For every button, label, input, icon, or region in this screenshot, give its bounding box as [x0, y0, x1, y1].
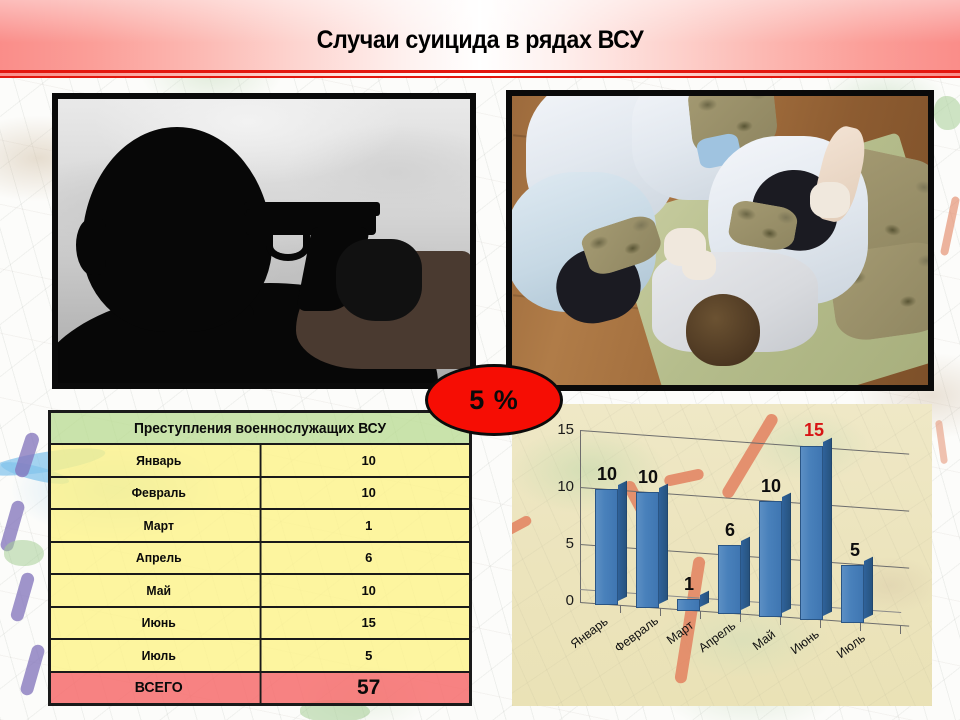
chart-x-label-april: Апрель: [696, 618, 738, 655]
table-cell-month: Апрель: [58, 543, 262, 574]
map-road: [940, 196, 960, 256]
bar-face: [718, 545, 741, 614]
chart-y-tick-5: 5: [544, 535, 574, 552]
chart-y-tick-15: 15: [544, 421, 574, 438]
map-dashed-route: [19, 643, 46, 697]
chart-label-june: 15: [797, 420, 831, 441]
chart-x-tick: [860, 623, 861, 631]
pistol-trigger-guard: [266, 231, 310, 261]
percent-badge: 5 %: [425, 364, 563, 436]
chart-x-label-june: Июнь: [788, 627, 822, 657]
table-cell-value: 15: [268, 608, 469, 639]
table-cell-month: Март: [58, 510, 262, 541]
chart-x-tick: [820, 620, 821, 628]
chart-bar-may: [759, 501, 782, 617]
table-total-label: ВСЕГО: [58, 673, 262, 704]
table-header-label: Преступления военнослужащих ВСУ: [134, 420, 386, 437]
chart-map-road: [663, 468, 704, 487]
latex-glove: [682, 250, 716, 280]
chart-bar-february: [636, 492, 659, 608]
map-green-area: [4, 540, 44, 566]
bar-face: [677, 599, 700, 611]
chart-bar-april: [718, 545, 741, 614]
bar-face: [759, 501, 782, 617]
chart-bar-july: [841, 565, 864, 623]
silhouette-hand: [336, 239, 422, 321]
bar-face: [841, 565, 864, 623]
table-row: Февраль 10: [51, 478, 469, 511]
monthly-bar-chart: 15 10 5 0: [512, 404, 932, 706]
table-cell-month: Июль: [58, 640, 262, 671]
percent-badge-label: 5 %: [469, 385, 519, 416]
latex-glove: [810, 182, 850, 218]
table-cell-value: 10: [268, 575, 469, 606]
chart-x-label-february: Февраль: [612, 613, 661, 655]
map-dashed-route: [9, 571, 35, 623]
chart-label-may: 10: [754, 476, 788, 497]
chart-y-tick-0: 0: [544, 592, 574, 609]
table-cell-value: 5: [268, 640, 469, 671]
medics-photo: [506, 90, 934, 391]
table-total-value: 57: [268, 673, 469, 704]
table-row: Январь 10: [51, 445, 469, 478]
map-road: [935, 420, 948, 465]
chart-label-january: 10: [590, 464, 624, 485]
bar-face: [595, 489, 618, 605]
map-green-area: [934, 96, 960, 130]
table-row: Март 1: [51, 510, 469, 543]
chart-label-february: 10: [631, 467, 665, 488]
chart-x-tick: [740, 614, 741, 622]
chart-y-axis: [580, 430, 581, 602]
bar-side: [823, 438, 832, 616]
chart-bar-june: [800, 446, 823, 620]
patient-head: [686, 294, 760, 366]
chart-x-label-january: Январь: [568, 614, 611, 651]
table-row: Май 10: [51, 575, 469, 608]
slide-canvas: Случаи суицида в рядах ВСУ: [0, 0, 960, 720]
table-total-row: ВСЕГО 57: [51, 673, 469, 704]
bar-side: [741, 537, 750, 610]
chart-x-label-may: Май: [750, 627, 778, 653]
table-cell-value: 10: [268, 445, 469, 476]
table-cell-month: Июнь: [58, 608, 262, 639]
crimes-table: Преступления военнослужащих ВСУ Январь 1…: [48, 410, 472, 706]
header-rule-bottom: [0, 76, 960, 78]
suicide-silhouette-photo: [52, 93, 476, 389]
table-row: Апрель 6: [51, 543, 469, 576]
chart-label-march: 1: [672, 574, 706, 595]
chart-bar-march: [677, 599, 700, 611]
chart-x-tick: [620, 605, 621, 613]
bar-face: [636, 492, 659, 608]
chart-x-tick: [700, 611, 701, 619]
chart-label-april: 6: [713, 520, 747, 541]
chart-x-tick: [780, 617, 781, 625]
table-cell-value: 6: [268, 543, 469, 574]
table-row: Июль 5: [51, 640, 469, 673]
chart-label-july: 5: [838, 540, 872, 561]
chart-x-label-july: Июль: [834, 631, 868, 661]
chart-map-road: [512, 514, 533, 542]
table-cell-month: Май: [58, 575, 262, 606]
table-cell-month: Январь: [58, 445, 262, 476]
silhouette-ear: [76, 219, 106, 275]
bar-face: [800, 446, 823, 620]
chart-x-tick: [660, 608, 661, 616]
bar-side: [782, 493, 791, 613]
chart-x-tick: [900, 626, 901, 634]
table-cell-value: 1: [268, 510, 469, 541]
table-cell-value: 10: [268, 478, 469, 509]
bar-side: [864, 557, 873, 619]
table-cell-month: Февраль: [58, 478, 262, 509]
table-row: Июнь 15: [51, 608, 469, 641]
header-rule-top: [0, 70, 960, 73]
bar-side: [659, 484, 668, 604]
page-title: Случаи суицида в рядах ВСУ: [34, 26, 927, 55]
bar-side: [618, 481, 627, 601]
chart-y-tick-10: 10: [544, 478, 574, 495]
table-header-row: Преступления военнослужащих ВСУ: [51, 413, 469, 445]
chart-bar-january: [595, 489, 618, 605]
